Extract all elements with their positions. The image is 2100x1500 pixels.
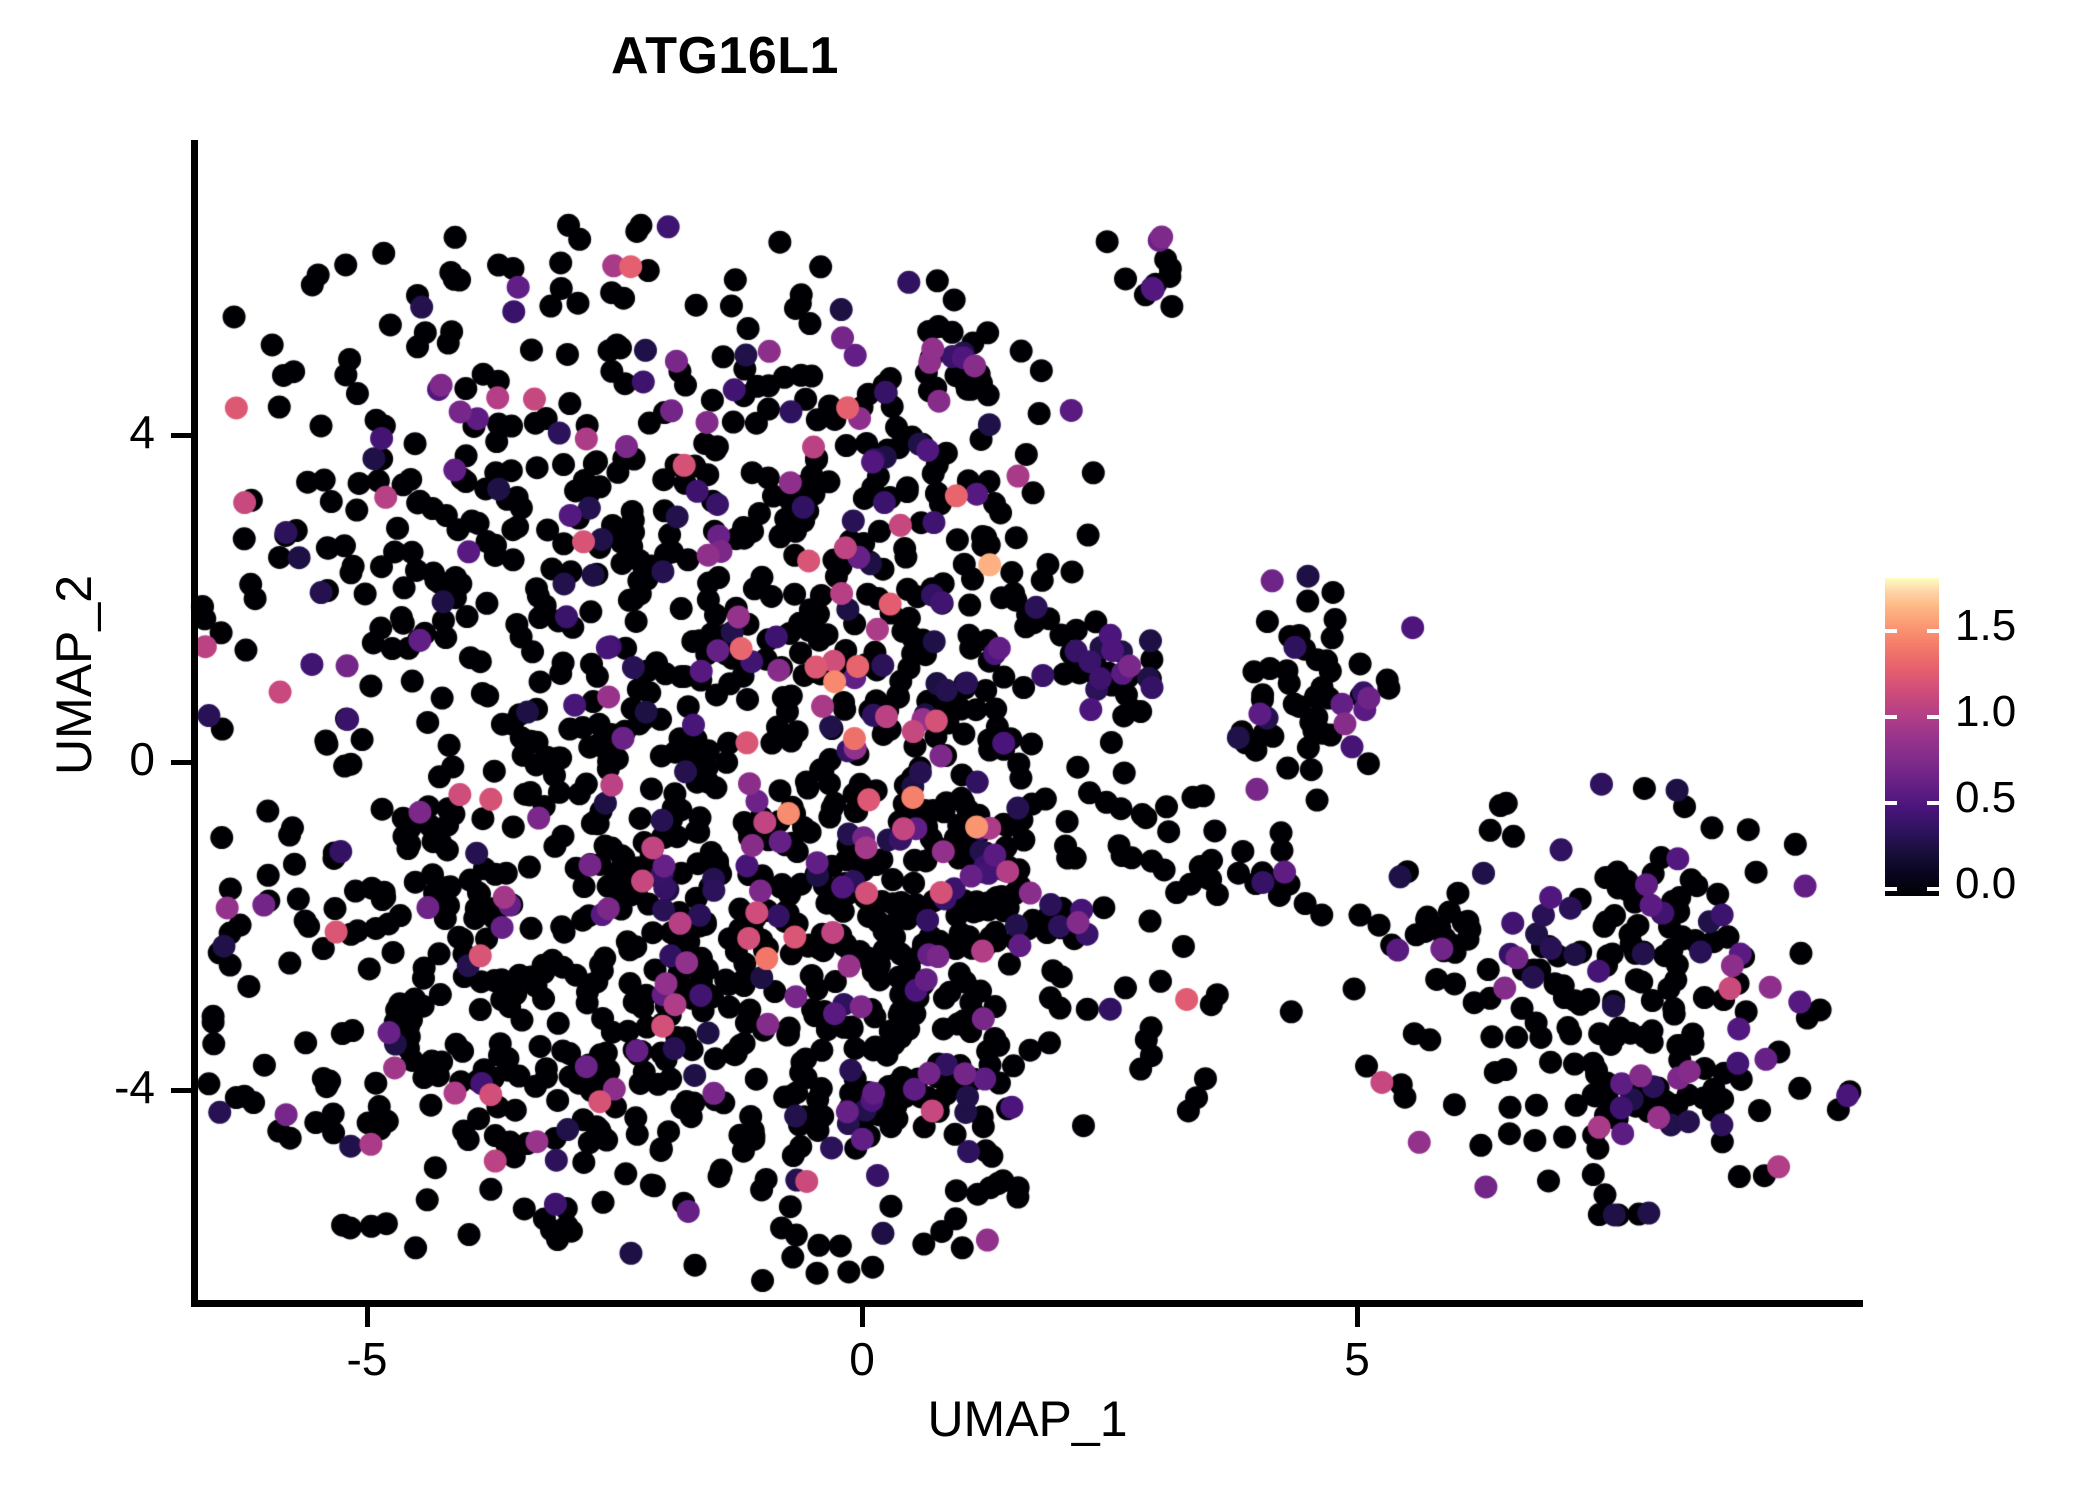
x-axis-label: UMAP_1 <box>195 1390 1860 1448</box>
x-tick-mark-2 <box>1355 1307 1360 1327</box>
y-axis-spine <box>191 140 198 1307</box>
x-tick-mark-0 <box>365 1307 370 1327</box>
y-tick-mark-0 <box>171 433 191 438</box>
feature-plot-figure: ATG16L1 -5 0 5 4 0 -4 UMAP_1 UMAP_2 1.5 … <box>0 0 2100 1500</box>
colorbar-label-0: 1.5 <box>1955 601 2016 651</box>
x-tick-label-1: 0 <box>782 1332 942 1386</box>
scatter-plot-canvas <box>0 0 2100 1500</box>
y-tick-label-2: -4 <box>0 1060 155 1114</box>
colorbar-tick-mark-0-right <box>1927 629 1939 633</box>
colorbar-legend: 1.5 1.0 0.5 0.0 <box>1880 560 2090 920</box>
colorbar-tick-mark-1-left <box>1885 715 1897 719</box>
x-tick-mark-1 <box>860 1307 865 1327</box>
colorbar-gradient <box>1885 578 1939 896</box>
x-tick-label-0: -5 <box>287 1332 447 1386</box>
x-axis-spine <box>191 1300 1863 1307</box>
y-axis-label: UMAP_2 <box>45 325 103 1025</box>
colorbar-tick-mark-3-right <box>1927 887 1939 891</box>
colorbar-label-3: 0.0 <box>1955 859 2016 909</box>
y-tick-mark-2 <box>171 1088 191 1093</box>
y-axis-label-wrapper: UMAP_2 <box>45 325 115 1025</box>
y-tick-mark-1 <box>171 760 191 765</box>
colorbar-label-2: 0.5 <box>1955 773 2016 823</box>
colorbar-tick-mark-2-right <box>1927 801 1939 805</box>
colorbar-tick-mark-3-left <box>1885 887 1897 891</box>
x-tick-label-2: 5 <box>1277 1332 1437 1386</box>
colorbar-tick-mark-2-left <box>1885 801 1897 805</box>
colorbar-label-1: 1.0 <box>1955 687 2016 737</box>
colorbar-tick-mark-1-right <box>1927 715 1939 719</box>
colorbar-tick-mark-0-left <box>1885 629 1897 633</box>
